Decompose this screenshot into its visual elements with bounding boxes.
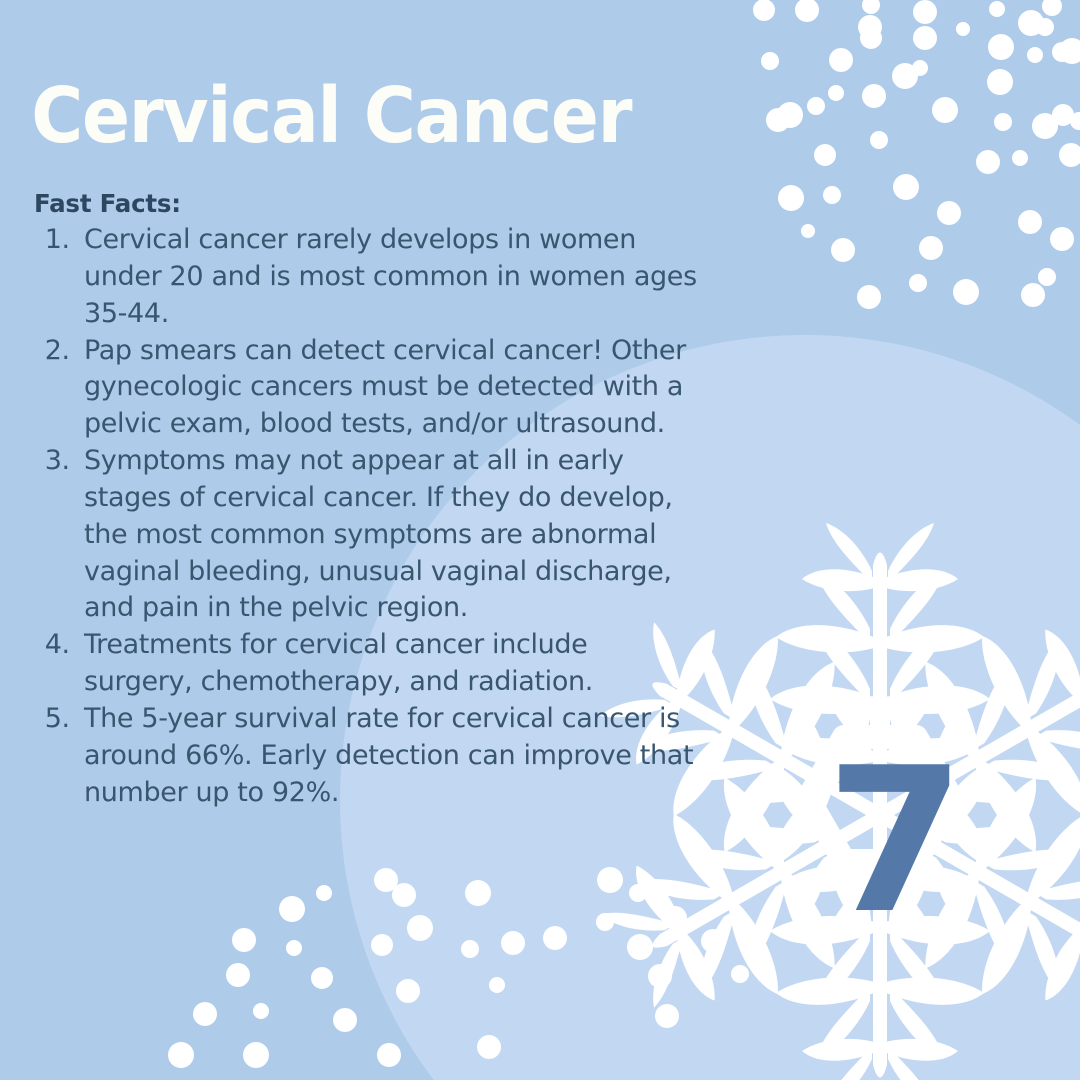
list-item: The 5-year survival rate for cervical ca… (78, 701, 700, 812)
list-item: Pap smears can detect cervical cancer! O… (78, 333, 700, 444)
content-column: Cervical Cancer Fast Facts: Cervical can… (0, 0, 700, 812)
issue-number-badge: 7 (826, 742, 961, 942)
fast-facts-heading: Fast Facts: (0, 155, 700, 218)
list-item: Symptoms may not appear at all in early … (78, 443, 700, 627)
fast-facts-list: Cervical cancer rarely develops in women… (0, 222, 700, 812)
poster-canvas: Cervical Cancer Fast Facts: Cervical can… (0, 0, 1080, 1080)
list-item: Cervical cancer rarely develops in women… (78, 222, 700, 333)
page-title: Cervical Cancer (0, 0, 644, 155)
list-item: Treatments for cervical cancer include s… (78, 627, 700, 701)
